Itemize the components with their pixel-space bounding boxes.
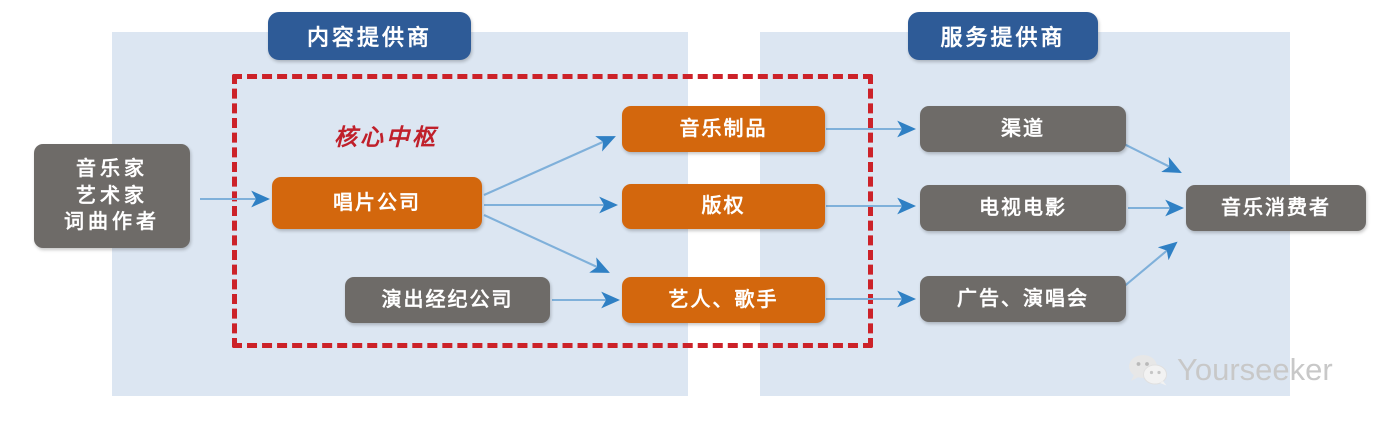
header-pill-content-provider: 内容提供商 [268,12,471,60]
node-channel-label: 渠道 [1001,116,1045,142]
node-music-products[interactable]: 音乐制品 [622,106,825,152]
node-copyright[interactable]: 版权 [622,184,825,229]
watermark-text: Yourseeker [1177,352,1333,388]
node-music-products-label: 音乐制品 [680,116,768,142]
node-channel[interactable]: 渠道 [920,106,1126,152]
node-tv-film-label: 电视电影 [979,195,1067,221]
node-tv-film[interactable]: 电视电影 [920,185,1126,231]
node-copyright-label: 版权 [702,193,746,219]
wechat-icon [1128,354,1168,386]
node-record-company-label: 唱片公司 [333,190,421,216]
header-pill-service-provider: 服务提供商 [908,12,1098,60]
diagram-canvas: 内容提供商 服务提供商 核心中枢 音乐家 艺术家 词曲作者 [0,0,1397,427]
header-pill-service-provider-label: 服务提供商 [940,20,1065,52]
node-creators[interactable]: 音乐家 艺术家 词曲作者 [34,144,190,248]
node-creators-label: 音乐家 艺术家 词曲作者 [64,156,160,235]
node-ads-concerts-label: 广告、演唱会 [957,286,1089,312]
node-ads-concerts[interactable]: 广告、演唱会 [920,276,1126,322]
core-hub-label: 核心中枢 [334,118,438,152]
node-artists-singers-label: 艺人、歌手 [669,287,779,313]
node-music-consumers-label: 音乐消费者 [1221,195,1331,221]
node-music-consumers[interactable]: 音乐消费者 [1186,185,1366,231]
header-pill-content-provider-label: 内容提供商 [307,20,432,52]
node-agency-company[interactable]: 演出经纪公司 [345,277,550,323]
node-record-company[interactable]: 唱片公司 [272,177,482,229]
node-artists-singers[interactable]: 艺人、歌手 [622,277,825,323]
node-agency-company-label: 演出经纪公司 [382,287,514,313]
watermark: Yourseeker [1128,352,1333,388]
